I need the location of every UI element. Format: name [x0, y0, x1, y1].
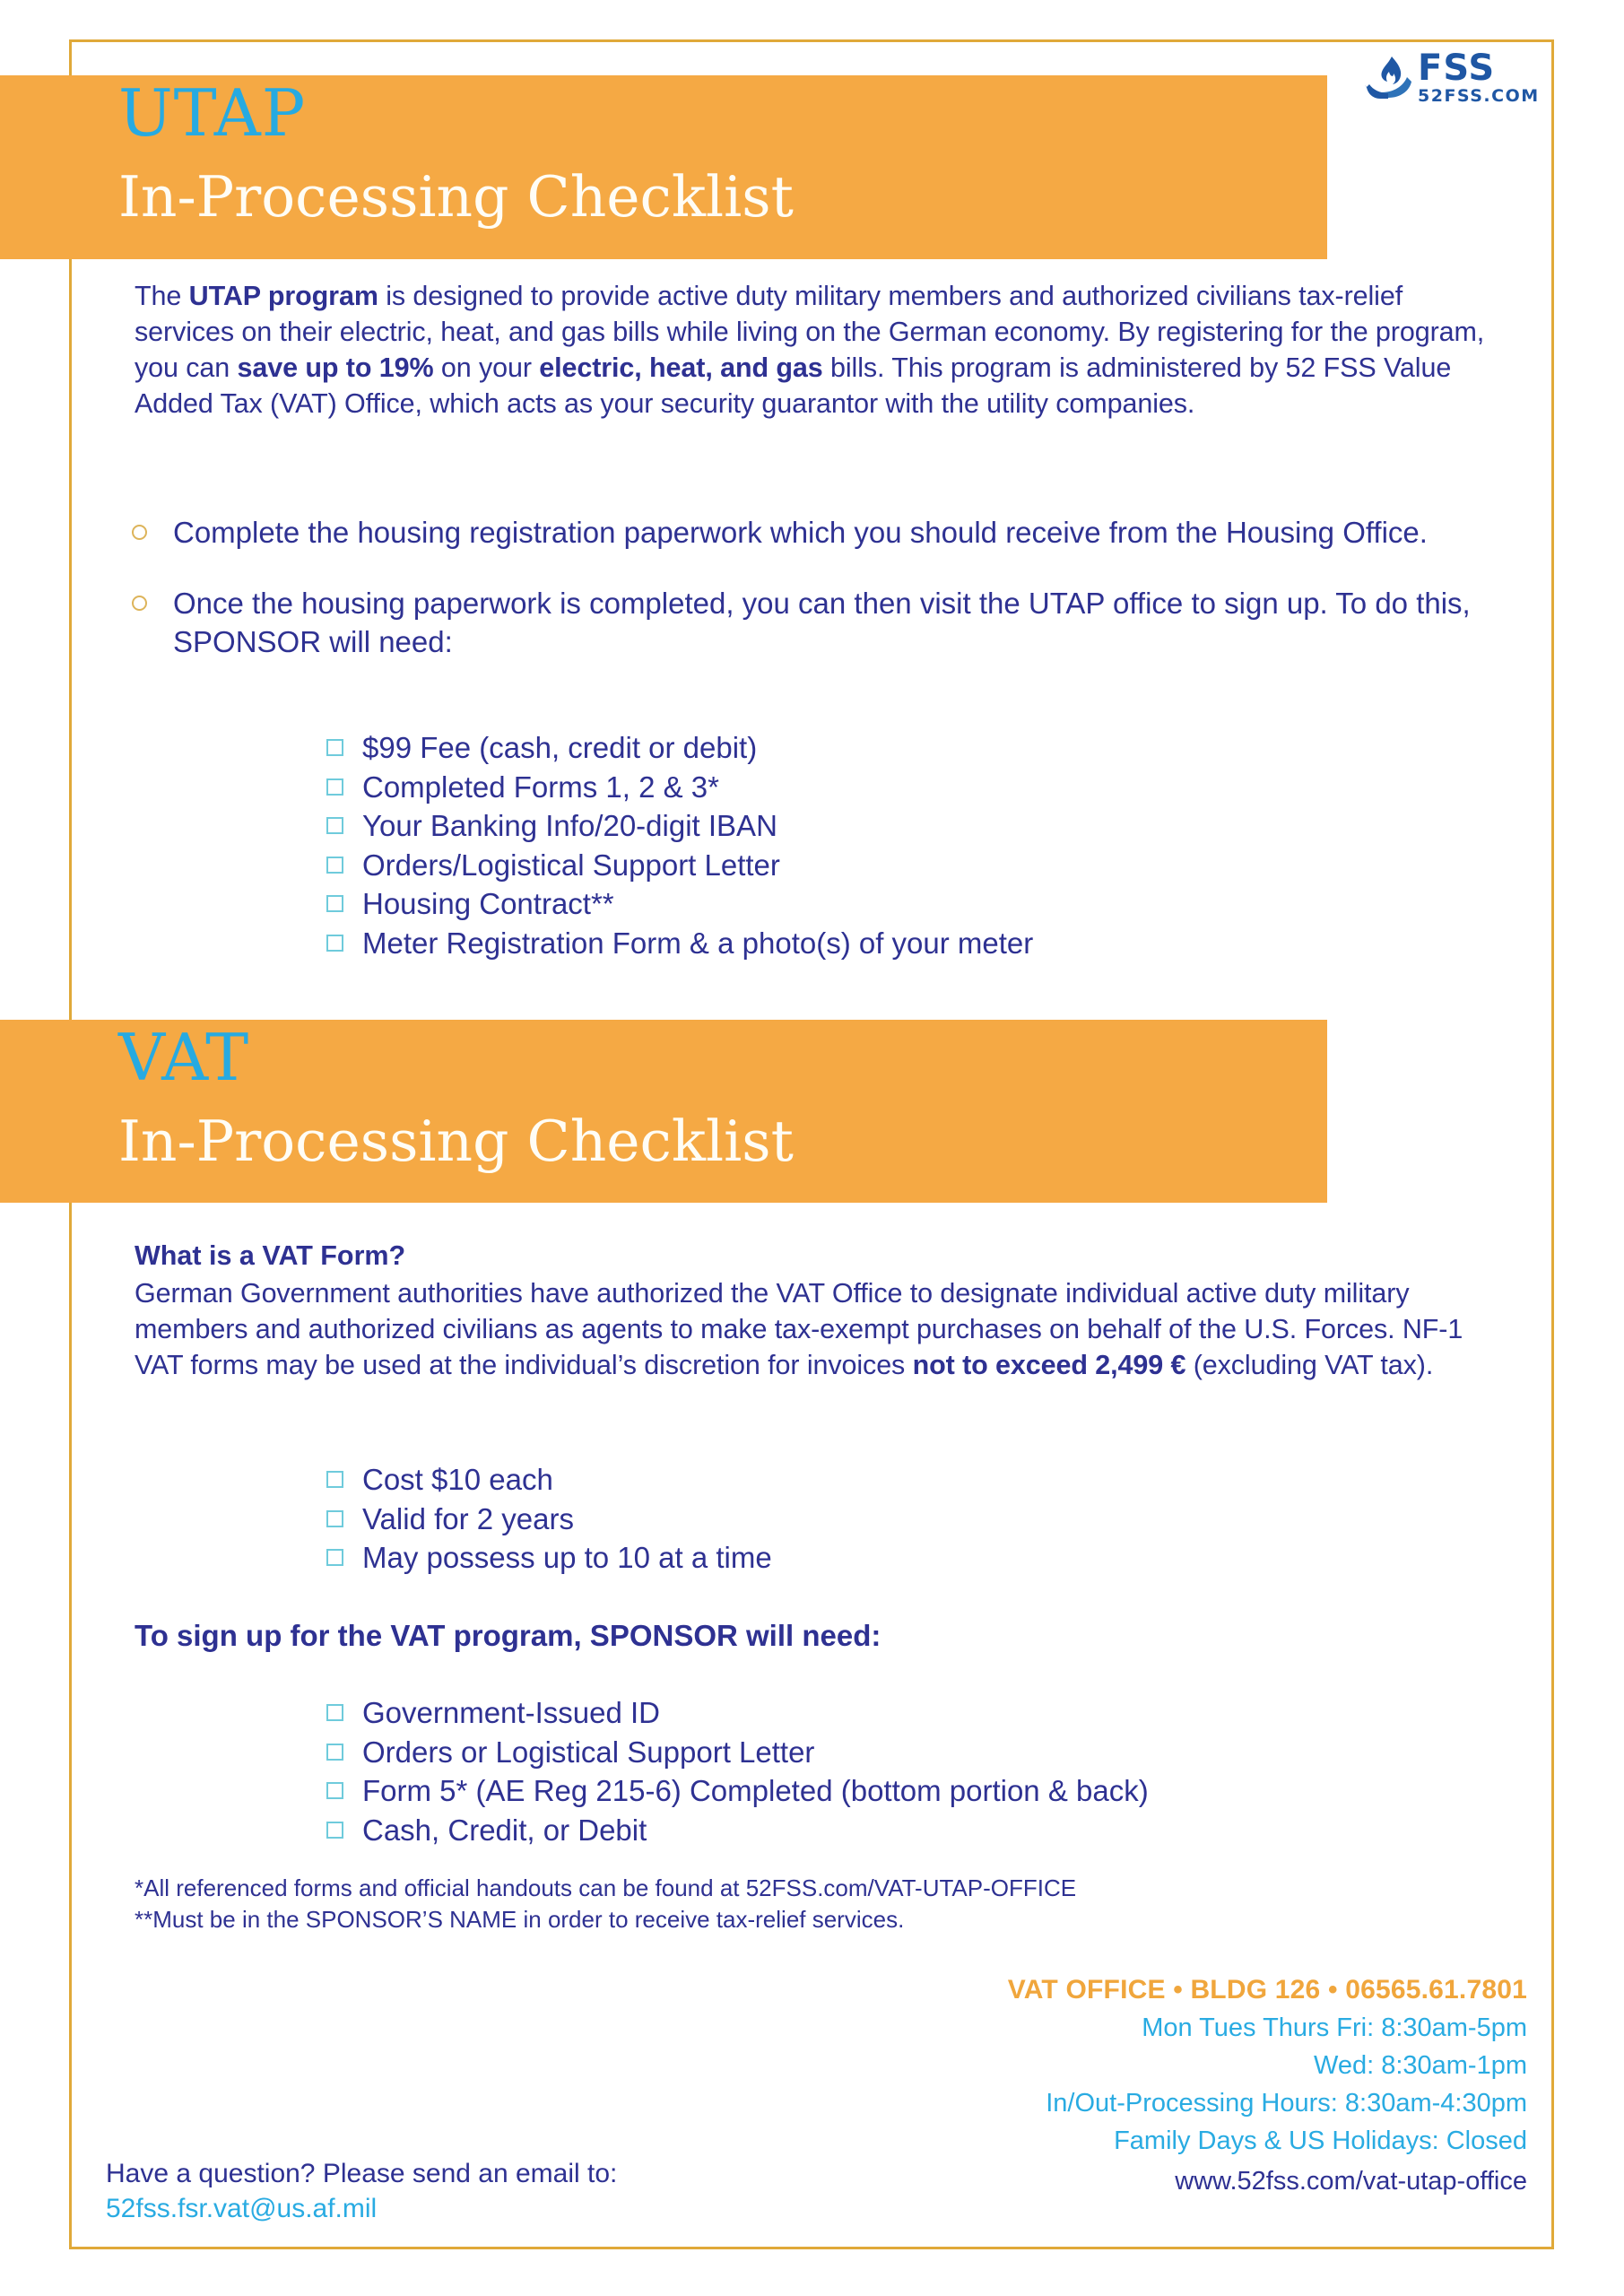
utap-intro-bold3: electric, heat, and gas [539, 352, 822, 383]
footnotes: *All referenced forms and official hando… [135, 1873, 1076, 1935]
checklist-label: Orders/Logistical Support Letter [362, 848, 780, 882]
checkbox-icon[interactable] [326, 817, 343, 834]
checklist-label: Form 5* (AE Reg 215-6) Completed (bottom… [362, 1774, 1149, 1807]
vat-signup-heading: To sign up for the VAT program, SPONSOR … [135, 1619, 881, 1653]
footer-contact-block: VAT OFFICE • BLDG 126 • 06565.61.7801 Mo… [1008, 1971, 1527, 2200]
checklist-label: Your Banking Info/20-digit IBAN [362, 809, 777, 842]
checkbox-icon[interactable] [326, 1510, 343, 1527]
utap-title: UTAP [118, 81, 306, 145]
vat-header-band: VAT In-Processing Checklist [0, 1020, 1327, 1203]
fss-logo: FSS 52FSS.COM [1362, 50, 1541, 111]
list-item[interactable]: Valid for 2 years [325, 1500, 772, 1539]
list-item[interactable]: Your Banking Info/20-digit IBAN [325, 806, 1033, 846]
checkbox-icon[interactable] [326, 739, 343, 756]
checkbox-icon[interactable] [326, 895, 343, 912]
utap-intro-part3: on your [433, 352, 539, 383]
checkbox-icon[interactable] [326, 1549, 343, 1566]
list-item: Complete the housing registration paperw… [130, 513, 1545, 552]
hours-line: In/Out-Processing Hours: 8:30am-4:30pm [1008, 2084, 1527, 2122]
list-item[interactable]: May possess up to 10 at a time [325, 1538, 772, 1578]
utap-documents-checklist: $99 Fee (cash, credit or debit) Complete… [325, 728, 1033, 962]
list-item[interactable]: Government-Issued ID [325, 1693, 1149, 1733]
list-item[interactable]: $99 Fee (cash, credit or debit) [325, 728, 1033, 768]
checklist-label: Meter Registration Form & a photo(s) of … [362, 926, 1033, 960]
checklist-label: Valid for 2 years [362, 1502, 574, 1535]
utap-intro-bold1: UTAP program [189, 281, 378, 311]
hours-line: Family Days & US Holidays: Closed [1008, 2122, 1527, 2160]
checkbox-icon[interactable] [326, 778, 343, 796]
utap-step-label: Complete the housing registration paperw… [173, 516, 1428, 549]
checklist-label: Cash, Credit, or Debit [362, 1813, 647, 1847]
checkbox-icon[interactable] [326, 1822, 343, 1839]
list-item[interactable]: Completed Forms 1, 2 & 3* [325, 768, 1033, 807]
checkbox-icon[interactable] [326, 935, 343, 952]
vat-office-line: VAT OFFICE • BLDG 126 • 06565.61.7801 [1008, 1971, 1527, 2009]
list-item[interactable]: Orders or Logistical Support Letter [325, 1733, 1149, 1772]
checklist-label: Cost $10 each [362, 1463, 553, 1496]
utap-header-band: UTAP In-Processing Checklist [0, 75, 1327, 259]
checkbox-icon[interactable] [326, 1782, 343, 1799]
vat-intro-paragraph: German Government authorities have autho… [135, 1275, 1498, 1383]
vat-requirements-checklist: Government-Issued ID Orders or Logistica… [325, 1693, 1149, 1849]
utap-intro-paragraph: The UTAP program is designed to provide … [135, 278, 1498, 422]
checklist-label: May possess up to 10 at a time [362, 1541, 772, 1574]
flame-swoosh-icon [1362, 54, 1414, 106]
fss-logo-subtitle: 52FSS.COM [1418, 88, 1540, 105]
checklist-label: Housing Contract** [362, 887, 614, 920]
list-item[interactable]: Meter Registration Form & a photo(s) of … [325, 924, 1033, 963]
email-link[interactable]: 52fss.fsr.vat@us.af.mil [106, 2191, 617, 2226]
checklist-label: Orders or Logistical Support Letter [362, 1735, 814, 1769]
vat-intro-part2: (excluding VAT tax). [1185, 1350, 1433, 1380]
checklist-label: $99 Fee (cash, credit or debit) [362, 731, 757, 764]
footer-email-block: Have a question? Please send an email to… [106, 2156, 617, 2226]
email-prompt: Have a question? Please send an email to… [106, 2156, 617, 2191]
checklist-label: Government-Issued ID [362, 1696, 660, 1729]
checklist-label: Completed Forms 1, 2 & 3* [362, 770, 719, 804]
footnote-double-asterisk: **Must be in the SPONSOR’S NAME in order… [135, 1904, 1076, 1935]
list-item[interactable]: Cost $10 each [325, 1460, 772, 1500]
list-item[interactable]: Form 5* (AE Reg 215-6) Completed (bottom… [325, 1771, 1149, 1811]
vat-facts-checklist: Cost $10 each Valid for 2 years May poss… [325, 1460, 772, 1578]
list-item[interactable]: Cash, Credit, or Debit [325, 1811, 1149, 1850]
checkbox-icon[interactable] [326, 857, 343, 874]
circle-bullet-icon [132, 525, 147, 540]
hours-line: Mon Tues Thurs Fri: 8:30am-5pm [1008, 2009, 1527, 2047]
vat-title: VAT [118, 1025, 249, 1090]
vat-subtitle: In-Processing Checklist [118, 1113, 794, 1170]
fss-logo-text: FSS [1418, 50, 1495, 86]
checkbox-icon[interactable] [326, 1471, 343, 1488]
utap-steps-list: Complete the housing registration paperw… [130, 513, 1545, 693]
hours-line: Wed: 8:30am-1pm [1008, 2047, 1527, 2084]
list-item[interactable]: Housing Contract** [325, 884, 1033, 924]
list-item[interactable]: Orders/Logistical Support Letter [325, 846, 1033, 885]
footnote-single-asterisk: *All referenced forms and official hando… [135, 1873, 1076, 1904]
website-link[interactable]: www.52fss.com/vat-utap-office [1008, 2162, 1527, 2200]
checkbox-icon[interactable] [326, 1744, 343, 1761]
utap-intro-bold2: save up to 19% [238, 352, 434, 383]
utap-subtitle: In-Processing Checklist [118, 169, 794, 225]
vat-question-heading: What is a VAT Form? [135, 1240, 405, 1272]
vat-intro-bold1: not to exceed 2,499 € [913, 1350, 1186, 1380]
list-item: Once the housing paperwork is completed,… [130, 584, 1545, 661]
circle-bullet-icon [132, 596, 147, 611]
checkbox-icon[interactable] [326, 1704, 343, 1721]
utap-step-label: Once the housing paperwork is completed,… [173, 587, 1471, 658]
utap-intro-part1: The [135, 281, 189, 311]
